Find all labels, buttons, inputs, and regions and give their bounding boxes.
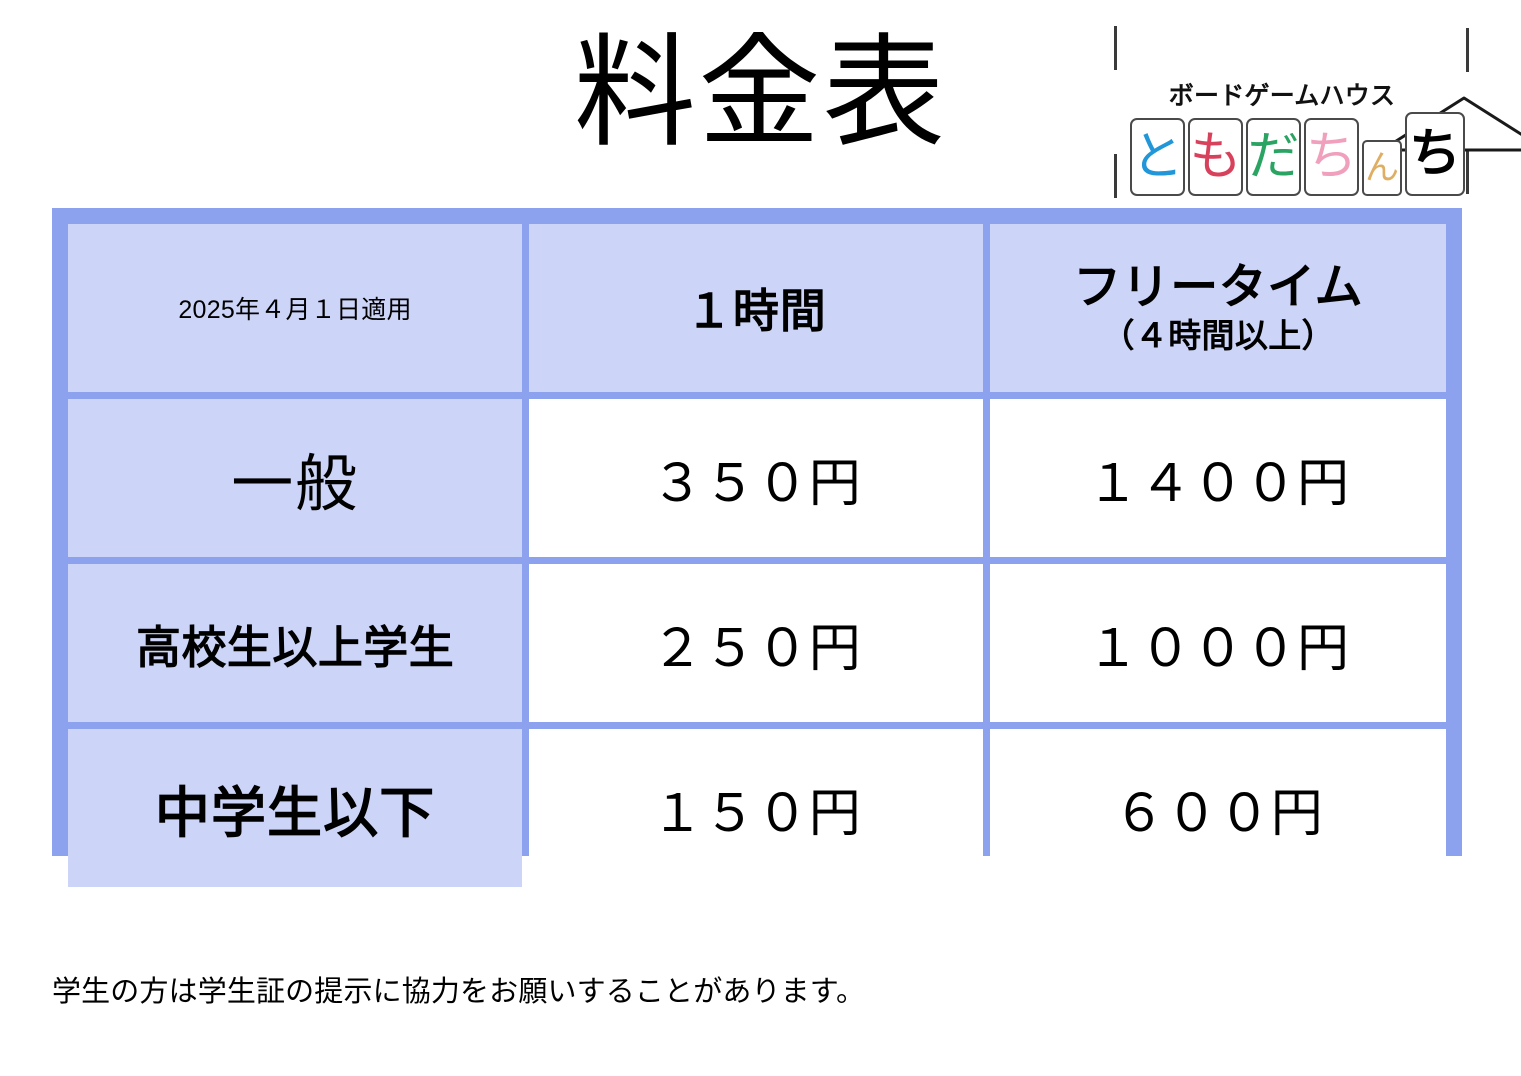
price-value: １５０円 bbox=[529, 771, 983, 846]
price-table: 2025年４月１日適用 １時間 フリータイム （４時間以上） 一般 bbox=[52, 208, 1462, 856]
price-general-free: １４００円 bbox=[990, 399, 1446, 557]
price-highschool-hour: ２５０円 bbox=[529, 564, 983, 722]
header-cell-one-hour: １時間 bbox=[529, 224, 983, 392]
price-juniorhigh-free: ６００円 bbox=[990, 729, 1446, 887]
price-value: １４００円 bbox=[990, 441, 1446, 516]
table-row: 一般 ３５０円 １４００円 bbox=[68, 399, 1446, 557]
row-label-highschool: 高校生以上学生 bbox=[68, 564, 522, 722]
crop-mark-bottom-right bbox=[1466, 150, 1469, 194]
category-label: 一般 bbox=[68, 433, 522, 523]
price-juniorhigh-hour: １５０円 bbox=[529, 729, 983, 887]
brand-logo: ボードゲームハウス と も だ ち ん ち bbox=[1106, 24, 1478, 196]
price-highschool-free: １０００円 bbox=[990, 564, 1446, 722]
price-value: ２５０円 bbox=[529, 606, 983, 681]
free-time-sublabel: （４時間以上） bbox=[990, 316, 1446, 356]
row-label-juniorhigh: 中学生以下 bbox=[68, 729, 522, 887]
category-label: 高校生以上学生 bbox=[68, 611, 522, 676]
price-table-grid: 2025年４月１日適用 １時間 フリータイム （４時間以上） 一般 bbox=[61, 217, 1453, 894]
free-time-label: フリータイム bbox=[990, 261, 1446, 316]
table-header-row: 2025年４月１日適用 １時間 フリータイム （４時間以上） bbox=[68, 224, 1446, 392]
header-cell-effective-date: 2025年４月１日適用 bbox=[68, 224, 522, 392]
price-list-page: 料金表 ボードゲームハウス と も だ ち ん ち bbox=[0, 0, 1521, 1076]
one-hour-label: １時間 bbox=[529, 275, 983, 341]
crop-mark-top-left bbox=[1114, 26, 1117, 70]
effective-date-label: 2025年４月１日適用 bbox=[68, 290, 522, 326]
crop-mark-bottom-left bbox=[1114, 154, 1117, 198]
crop-mark-top-right bbox=[1466, 28, 1469, 72]
logo-tile-to: と bbox=[1130, 118, 1185, 196]
table-row: 中学生以下 １５０円 ６００円 bbox=[68, 729, 1446, 887]
price-general-hour: ３５０円 bbox=[529, 399, 983, 557]
table-row: 高校生以上学生 ２５０円 １０００円 bbox=[68, 564, 1446, 722]
category-label: 中学生以下 bbox=[68, 768, 522, 848]
logo-tile-da: だ bbox=[1246, 118, 1301, 196]
price-value: ３５０円 bbox=[529, 441, 983, 516]
header-cell-free-time: フリータイム （４時間以上） bbox=[990, 224, 1446, 392]
price-value: １０００円 bbox=[990, 606, 1446, 681]
row-label-general: 一般 bbox=[68, 399, 522, 557]
price-value: ６００円 bbox=[990, 771, 1446, 846]
logo-tile-chi: ち bbox=[1304, 118, 1359, 196]
logo-character-tiles: と も だ ち ん ち bbox=[1130, 112, 1465, 196]
logo-tagline: ボードゲームハウス bbox=[1152, 76, 1412, 112]
logo-tile-n: ん bbox=[1362, 140, 1402, 196]
student-id-note: 学生の方は学生証の提示に協力をお願いすることがあります。 bbox=[52, 968, 865, 1010]
logo-tile-mo: も bbox=[1188, 118, 1243, 196]
logo-tile-chi2: ち bbox=[1405, 112, 1465, 196]
